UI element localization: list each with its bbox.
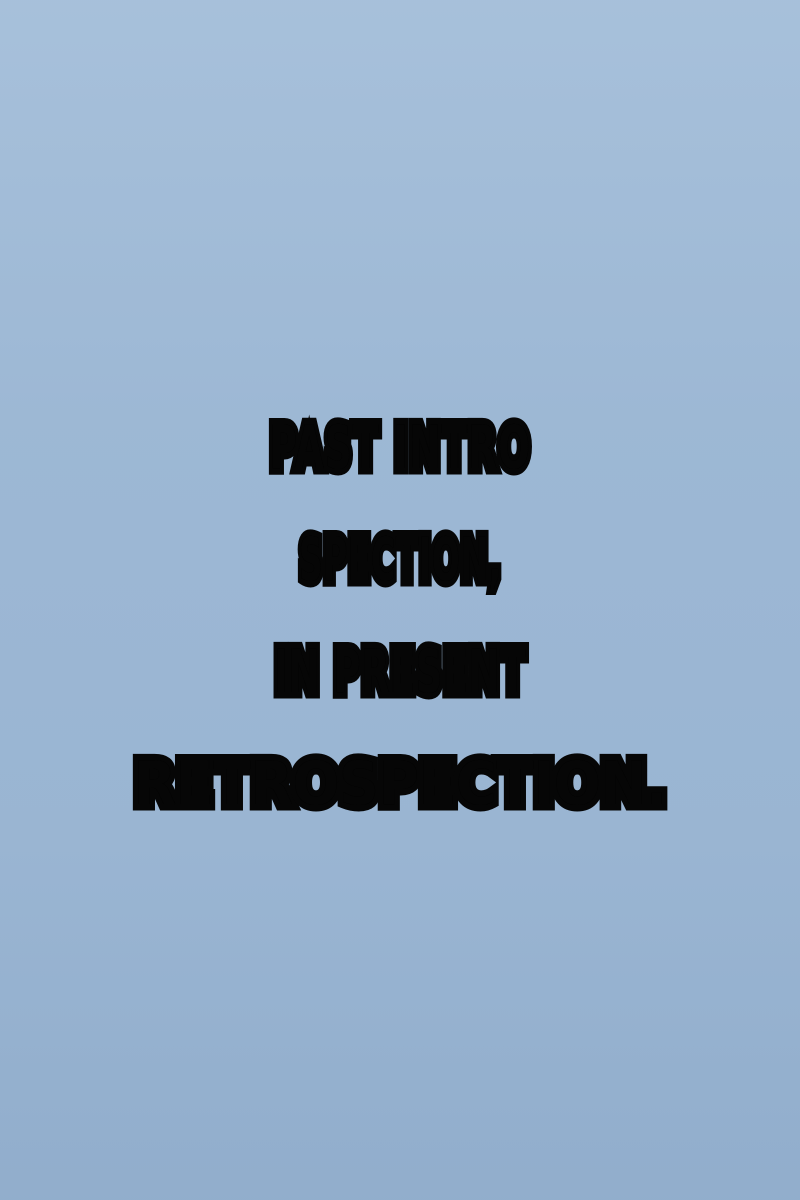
- quote-poster: PAST INTRO SPECTION, IN PRESENT RETROSPE…: [0, 0, 800, 1200]
- quote-line-4: RETROSPECTION.: [133, 728, 666, 840]
- quote-line-2: SPECTION,: [299, 504, 502, 616]
- quote-text-block: PAST INTRO SPECTION, IN PRESENT RETROSPE…: [0, 392, 800, 840]
- quote-line-3: IN PRESENT: [274, 616, 526, 728]
- quote-line-1: PAST INTRO: [269, 392, 531, 504]
